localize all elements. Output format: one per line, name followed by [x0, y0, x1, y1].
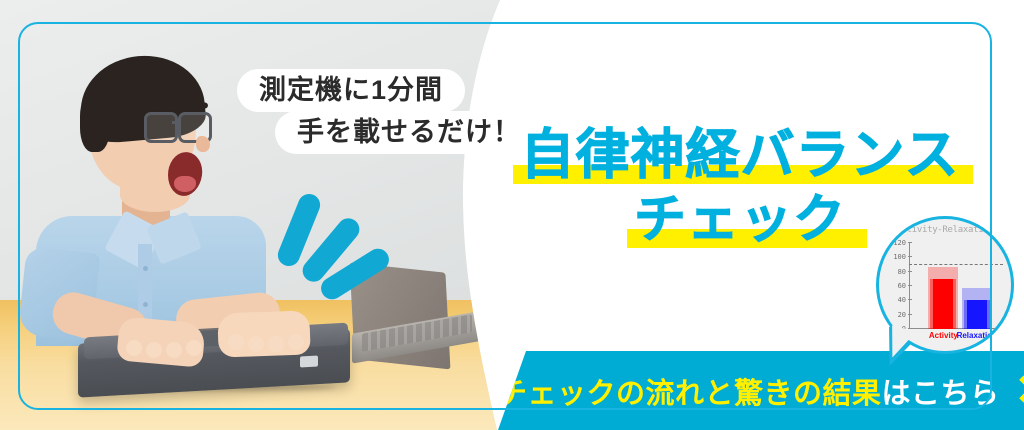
chart-y-tick: [908, 271, 912, 272]
measurement-device-indicator: [300, 355, 318, 367]
finger: [166, 342, 182, 358]
chart-bar-group: Activity: [928, 243, 958, 329]
chart-bar: [967, 300, 987, 329]
finger: [186, 340, 202, 356]
chart-y-tick-label: 60: [898, 282, 906, 290]
shirt-button: [143, 266, 148, 271]
eyeglass-lens-left: [144, 112, 178, 143]
person-tongue: [174, 176, 196, 192]
photo-scene: [0, 0, 520, 430]
cta-emphasis-text: チェックの流れと驚きの結果: [498, 378, 882, 410]
double-chevron-right-icon[interactable]: [1014, 376, 1024, 406]
headline-line-1-text: 自律神経バランス: [521, 128, 960, 182]
finger: [146, 342, 162, 358]
shirt-button: [143, 302, 148, 307]
chart-category-label: Relaxation: [957, 331, 997, 340]
chart-y-tick-label: 40: [898, 296, 906, 304]
callout-line-2: 手を載せるだけ！: [275, 111, 543, 154]
finger: [288, 334, 304, 350]
chart-category-label: Activity: [929, 331, 958, 340]
chart-y-tick-label: 120: [893, 239, 906, 247]
hero-photo: [0, 0, 520, 430]
person-nose: [196, 136, 210, 152]
eyeglasses-icon: [144, 112, 210, 138]
chart-bar-group: Relaxation: [962, 243, 992, 329]
chart-y-tick: [908, 256, 912, 257]
chart-title: Activity-Relaxation: [879, 225, 1011, 235]
cta-label: チェックの流れと驚きの結果はこちら: [498, 370, 1000, 412]
callout-line-1: 測定機に1分間: [237, 69, 465, 112]
headline-line-2-text: チェック: [634, 194, 846, 246]
chart-y-tick: [908, 242, 912, 243]
cta-tail-text: はこちら: [882, 378, 1000, 410]
chart-y-tick: [908, 285, 912, 286]
finger: [228, 334, 244, 350]
chart-bar: [933, 279, 953, 329]
chart-y-tick-label: 20: [898, 311, 906, 319]
chart-y-tick-label: 80: [898, 268, 906, 276]
chart-y-tick: [908, 314, 912, 315]
finger: [126, 340, 142, 356]
cta-banner[interactable]: チェックの流れと驚きの結果はこちら: [498, 351, 1024, 430]
promotional-banner: 測定機に1分間 手を載せるだけ！ 自律神経バランス チェック Activity-…: [0, 0, 1024, 430]
chart-y-tick: [908, 299, 912, 300]
person-sideburn: [80, 92, 110, 152]
headline-line-1: 自律神経バランス: [505, 128, 975, 182]
chart-plot-area: 020406080100120ActivityRelaxation: [909, 243, 997, 329]
finger: [268, 336, 284, 352]
chart-y-tick-label: 100: [893, 253, 906, 261]
finger: [248, 336, 264, 352]
